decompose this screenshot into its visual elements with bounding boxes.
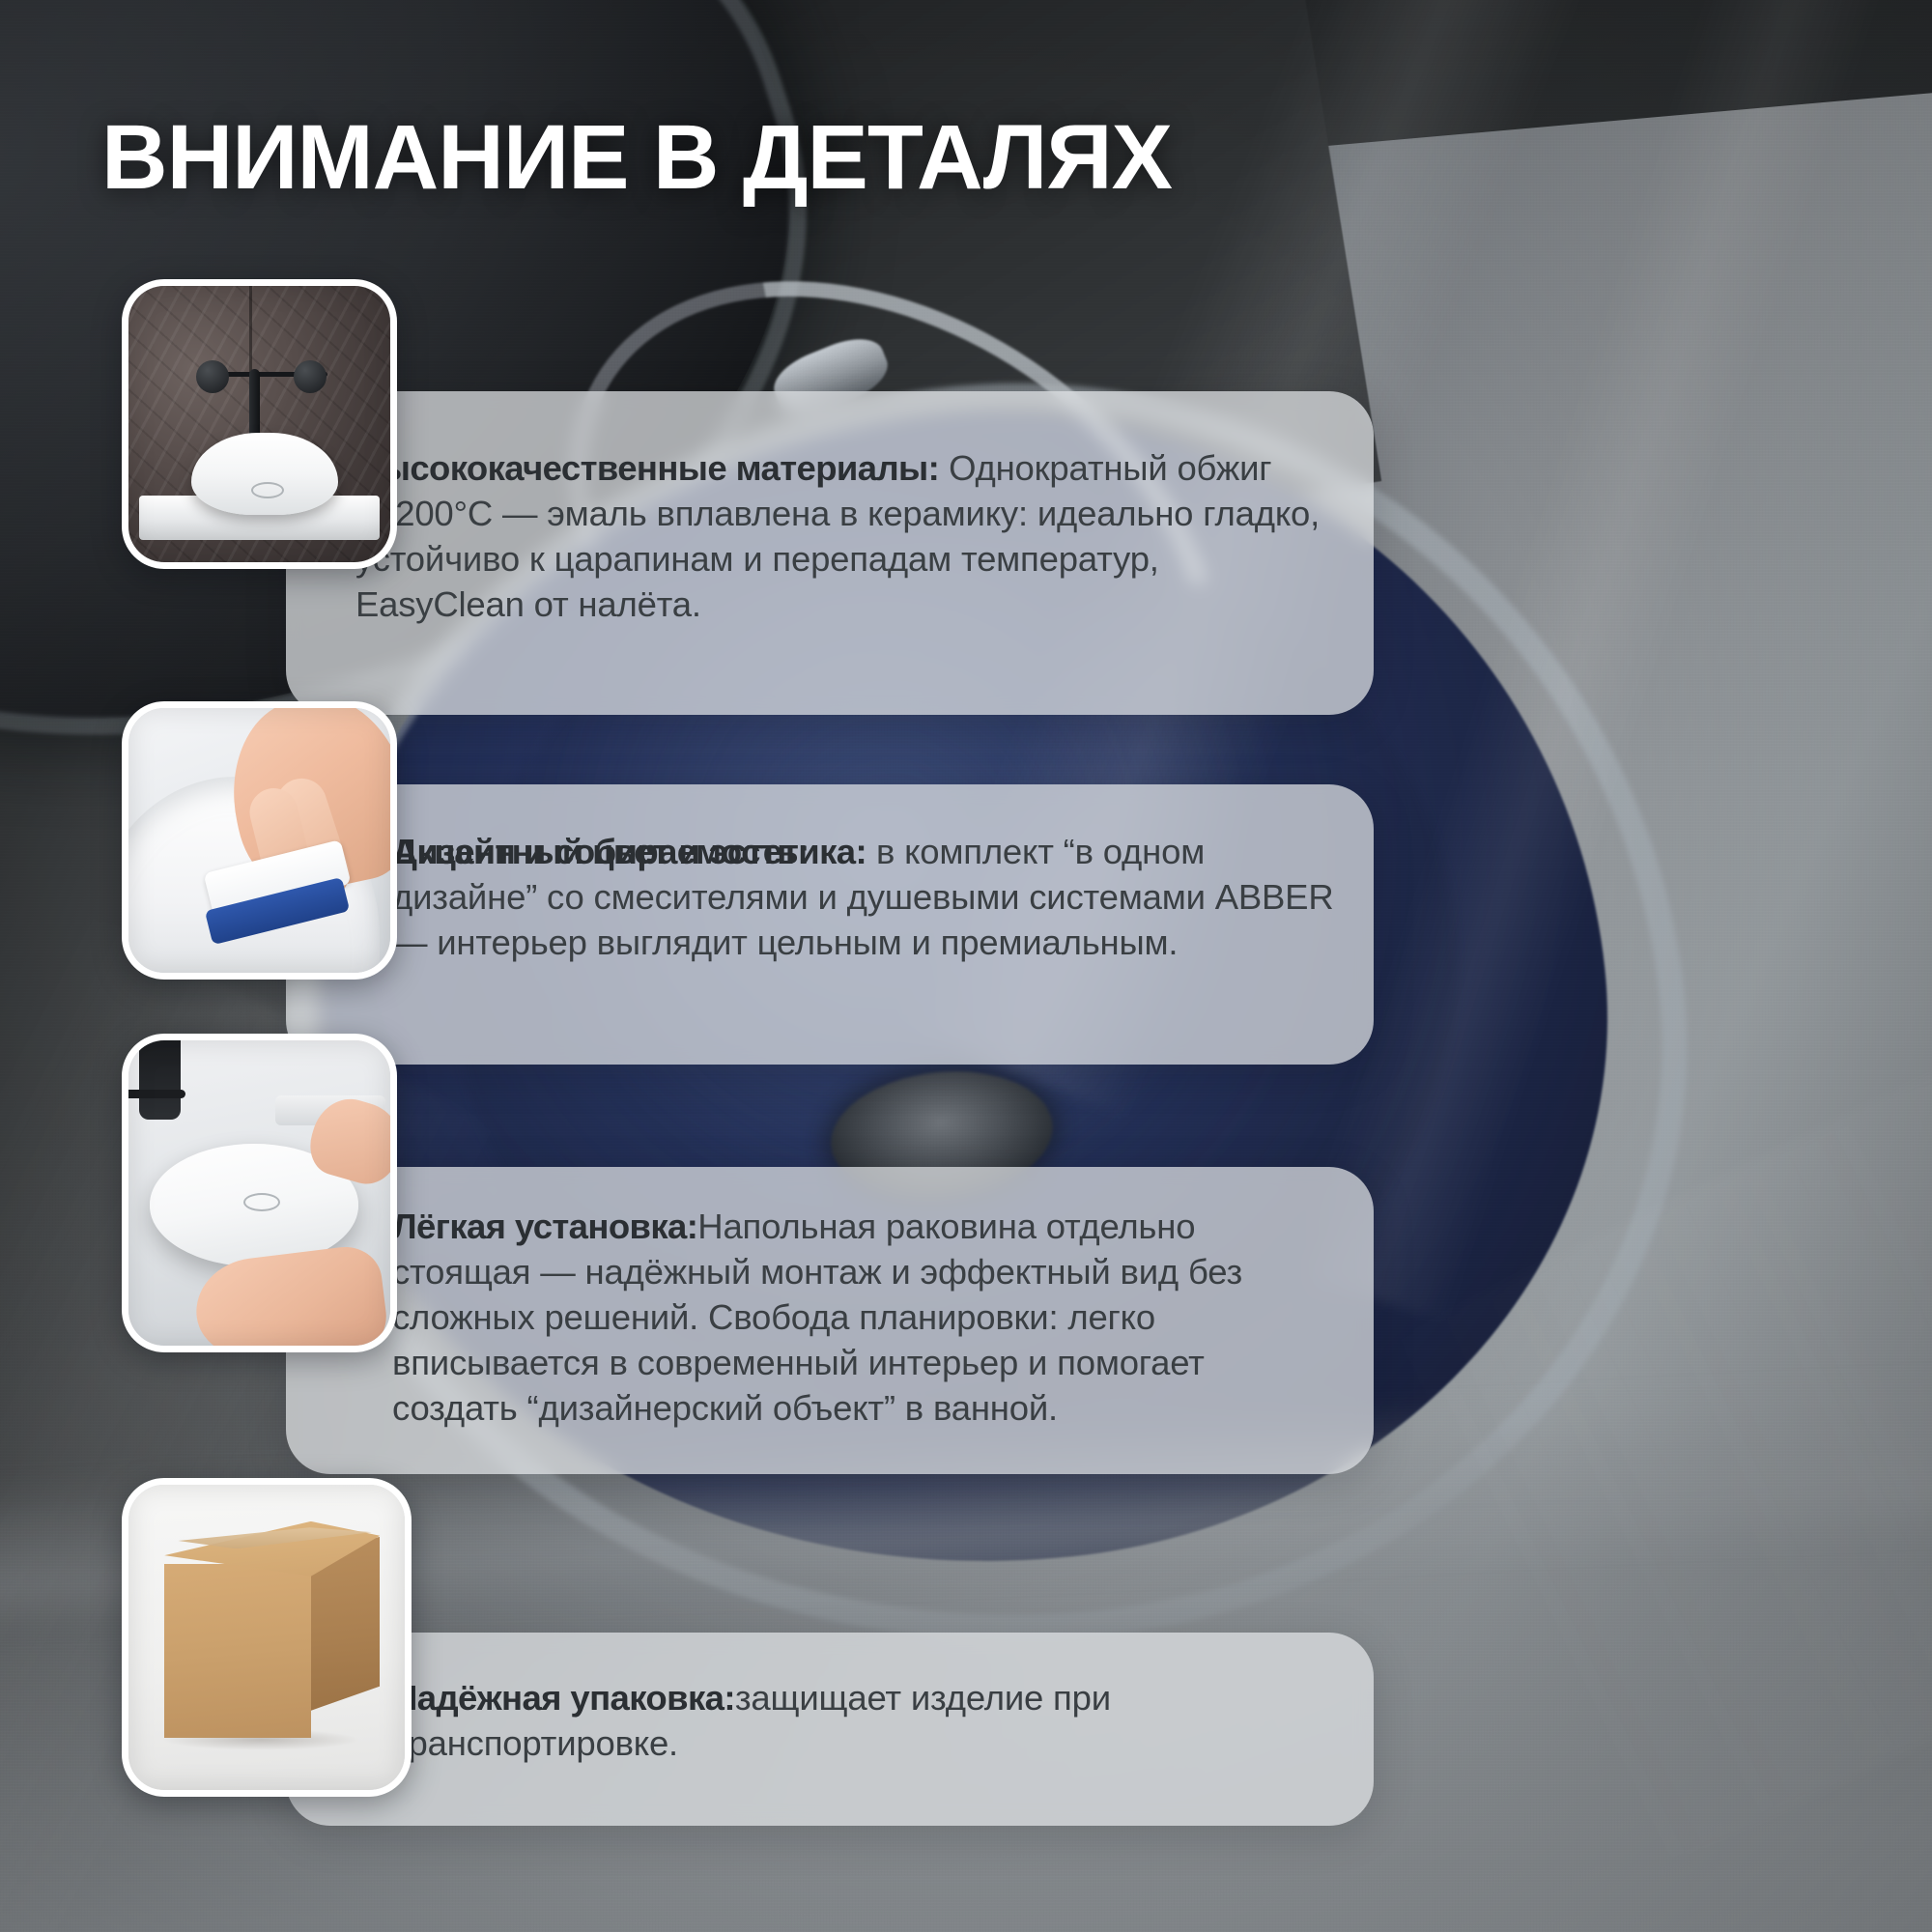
feature-text-packaging: Надёжная упаковка:защищает изделие при т… (392, 1675, 1339, 1766)
poster-root: ВНИМАНИЕ В ДЕТАЛЯХ Высококачественные ма… (0, 0, 1932, 1932)
thumbnail-inner-shadow (128, 286, 390, 562)
thumbnail-image-sponge-cleaning (128, 708, 390, 973)
feature-card-design: Акцентный цвет и эстетика: в комплект “в… (286, 784, 1374, 1065)
feature-heading-packaging: Надёжная упаковка: (392, 1678, 735, 1718)
feature-heading-design-overlay: Дизайн и собираемость: (392, 829, 810, 874)
thumbnail-image-basin-installation (128, 1040, 390, 1346)
feature-card-materials: Высококачественные материалы: Однократны… (286, 391, 1374, 715)
page-title: ВНИМАНИЕ В ДЕТАЛЯХ (101, 112, 1172, 204)
feature-thumbnail-packaging (122, 1478, 412, 1797)
feature-card-installation: Лёгкая установка:Напольная раковина отде… (286, 1167, 1374, 1474)
thumbnail-image-cardboard-box (128, 1485, 405, 1790)
thumbnail-inner-shadow (128, 1485, 405, 1790)
thumbnail-inner-shadow (128, 708, 390, 973)
feature-thumbnail-materials (122, 279, 397, 569)
feature-thumbnail-design (122, 701, 397, 980)
feature-text-materials: Высококачественные материалы: Однократны… (355, 445, 1321, 627)
feature-card-packaging: Надёжная упаковка:защищает изделие при т… (286, 1633, 1374, 1826)
feature-thumbnail-installation (122, 1034, 397, 1352)
feature-text-installation: Лёгкая установка:Напольная раковина отде… (392, 1204, 1339, 1431)
feature-heading-materials: Высококачественные материалы: (355, 448, 939, 488)
thumbnail-inner-shadow (128, 1040, 390, 1346)
feature-heading-installation: Лёгкая установка: (392, 1207, 697, 1246)
thumbnail-image-basin-faucet (128, 286, 390, 562)
